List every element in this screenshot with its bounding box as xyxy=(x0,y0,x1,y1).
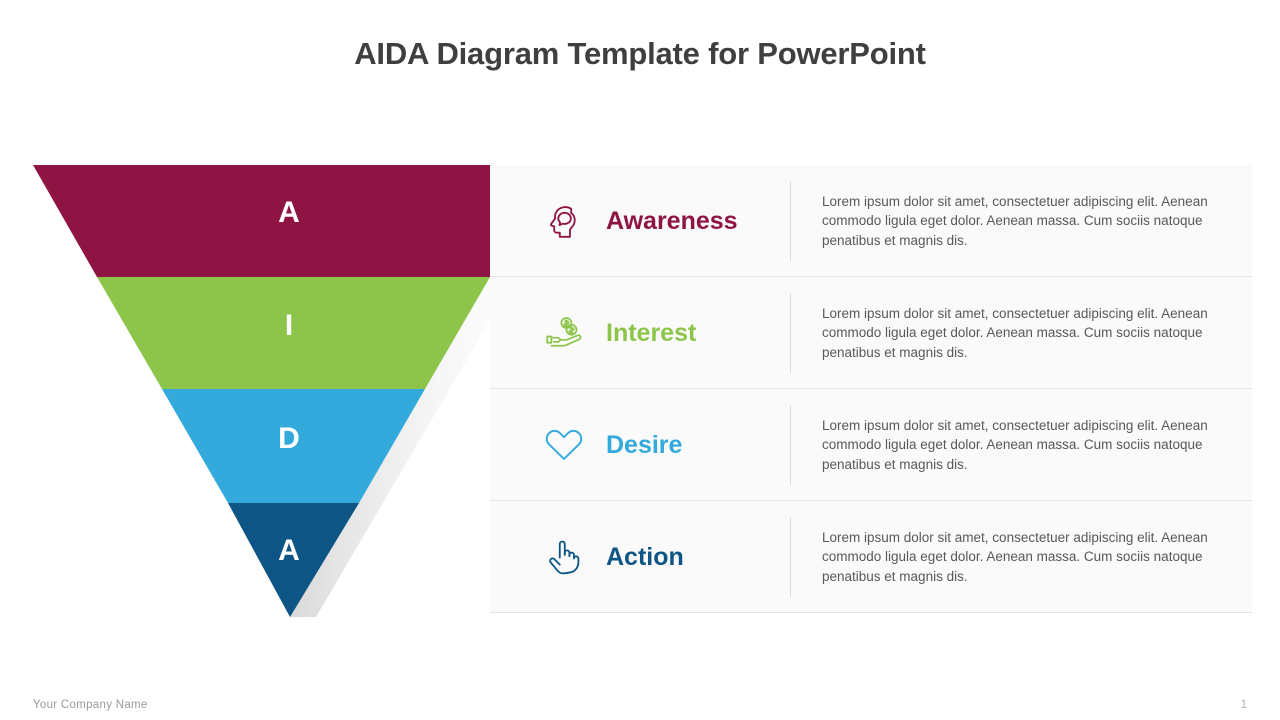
stage-title-desire: Desire xyxy=(606,431,682,460)
stage-heading-awareness: Awareness xyxy=(490,165,790,277)
row-divider xyxy=(790,293,791,373)
hand-coins-icon xyxy=(536,305,592,361)
list-item[interactable]: Desire Lorem ipsum dolor sit amet, conse… xyxy=(490,389,1252,501)
stage-body-text: Lorem ipsum dolor sit amet, consectetuer… xyxy=(822,416,1212,475)
stage-description-action: Lorem ipsum dolor sit amet, consectetuer… xyxy=(822,501,1212,613)
funnel-letter-awareness: A xyxy=(259,198,319,228)
stage-heading-interest: Interest xyxy=(490,277,790,389)
aida-funnel-diagram: A I D A Awareness Lorem ipsum dolor sit … xyxy=(0,0,1280,720)
stage-heading-desire: Desire xyxy=(490,389,790,501)
row-divider xyxy=(790,405,791,485)
list-item[interactable]: Action Lorem ipsum dolor sit amet, conse… xyxy=(490,501,1252,613)
stage-title-awareness: Awareness xyxy=(606,207,738,236)
stage-body-text: Lorem ipsum dolor sit amet, consectetuer… xyxy=(822,528,1212,587)
stage-description-interest: Lorem ipsum dolor sit amet, consectetuer… xyxy=(822,277,1212,389)
stage-title-interest: Interest xyxy=(606,319,696,348)
head-brain-icon xyxy=(536,193,592,249)
footer-page-number: 1 xyxy=(1241,699,1247,711)
list-item[interactable]: Interest Lorem ipsum dolor sit amet, con… xyxy=(490,277,1252,389)
stage-description-awareness: Lorem ipsum dolor sit amet, consectetuer… xyxy=(822,165,1212,277)
stage-rows-list: Awareness Lorem ipsum dolor sit amet, co… xyxy=(490,165,1252,615)
stage-title-action: Action xyxy=(606,543,684,572)
stage-body-text: Lorem ipsum dolor sit amet, consectetuer… xyxy=(822,304,1212,363)
funnel-letter-desire: D xyxy=(259,424,319,454)
row-divider xyxy=(790,181,791,261)
funnel-letter-action: A xyxy=(259,536,319,566)
heart-icon xyxy=(536,417,592,473)
footer-company-name: Your Company Name xyxy=(33,699,148,711)
list-item[interactable]: Awareness Lorem ipsum dolor sit amet, co… xyxy=(490,165,1252,277)
stage-description-desire: Lorem ipsum dolor sit amet, consectetuer… xyxy=(822,389,1212,501)
pointing-hand-icon xyxy=(536,529,592,585)
row-divider xyxy=(790,517,791,597)
funnel-letter-interest: I xyxy=(259,311,319,341)
stage-heading-action: Action xyxy=(490,501,790,613)
stage-body-text: Lorem ipsum dolor sit amet, consectetuer… xyxy=(822,192,1212,251)
